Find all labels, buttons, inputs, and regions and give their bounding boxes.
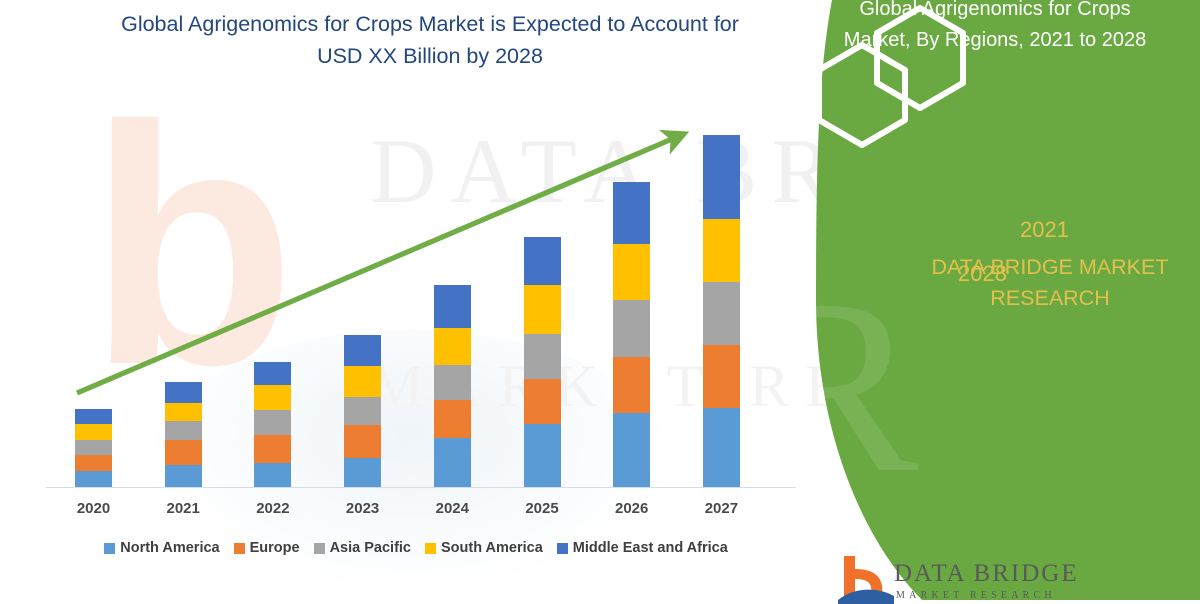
bar-segment-middle-east-and-africa xyxy=(254,362,291,385)
bar-segment-middle-east-and-africa xyxy=(344,335,381,366)
bar-segment-europe xyxy=(75,455,112,471)
bar-segment-middle-east-and-africa xyxy=(165,382,202,403)
bar-segment-middle-east-and-africa xyxy=(75,409,112,424)
x-axis-line xyxy=(46,487,796,488)
legend-label: Asia Pacific xyxy=(330,540,411,556)
bar-segment-middle-east-and-africa xyxy=(703,135,740,219)
stacked-bar xyxy=(703,135,740,487)
x-axis-label: 2022 xyxy=(233,500,313,517)
bar-segment-middle-east-and-africa xyxy=(434,285,471,328)
bar-segment-south-america xyxy=(165,403,202,421)
stacked-bar xyxy=(75,409,112,487)
bar-segment-europe xyxy=(613,357,650,413)
bar-segment-asia-pacific xyxy=(613,300,650,357)
bar-segment-asia-pacific xyxy=(434,365,471,400)
legend-swatch-icon xyxy=(234,543,245,554)
legend-item[interactable]: South America xyxy=(425,540,543,556)
x-axis-label: 2024 xyxy=(412,500,492,517)
legend-label: North America xyxy=(120,540,219,556)
bar-segment-europe xyxy=(165,440,202,465)
bar-segment-north-america xyxy=(344,458,381,487)
stacked-bar xyxy=(524,237,561,487)
x-axis-label: 2025 xyxy=(502,500,582,517)
logo-wordmark: DATA BRIDGE xyxy=(894,560,1079,588)
svg-text:R: R xyxy=(770,248,919,525)
logo-subtitle: MARKET RESEARCH xyxy=(896,590,1056,601)
chart-legend: North AmericaEuropeAsia PacificSouth Ame… xyxy=(46,540,786,556)
legend-item[interactable]: North America xyxy=(104,540,219,556)
bar-segment-europe xyxy=(434,400,471,438)
panel-title-line-2: Market, By Regions, 2021 to 2028 xyxy=(795,25,1195,56)
bar-segment-europe xyxy=(524,379,561,424)
legend-swatch-icon xyxy=(314,543,325,554)
bar-segment-asia-pacific xyxy=(75,440,112,455)
bar-segment-north-america xyxy=(524,424,561,487)
panel-brand-text: DATA BRIDGE MARKET RESEARCH xyxy=(900,252,1200,314)
bar-segment-north-america xyxy=(434,438,471,487)
legend-swatch-icon xyxy=(557,543,568,554)
bar-segment-north-america xyxy=(613,413,650,487)
legend-item[interactable]: Asia Pacific xyxy=(314,540,411,556)
logo-b-icon xyxy=(838,556,894,604)
stacked-bar xyxy=(344,335,381,487)
panel-title-line-1: Global Agrigenomics for Crops xyxy=(795,0,1195,25)
bar-segment-south-america xyxy=(613,244,650,300)
bar-segment-asia-pacific xyxy=(165,421,202,440)
legend-swatch-icon xyxy=(104,543,115,554)
bar-segment-south-america xyxy=(75,424,112,440)
chart-plot-area: 20202021202220232024202520262027 xyxy=(0,0,830,600)
panel-brand-line-1: DATA BRIDGE MARKET xyxy=(900,252,1200,283)
data-bridge-logo: DATA BRIDGE MARKET RESEARCH xyxy=(838,556,1198,604)
panel-title: Global Agrigenomics for Crops Market, By… xyxy=(795,0,1195,56)
x-axis-label: 2023 xyxy=(323,500,403,517)
bar-segment-asia-pacific xyxy=(344,397,381,425)
stacked-bar xyxy=(613,182,650,487)
bar-segment-europe xyxy=(344,425,381,458)
bar-segment-asia-pacific xyxy=(254,410,291,435)
bar-segment-europe xyxy=(703,345,740,408)
x-axis-label: 2026 xyxy=(592,500,672,517)
x-axis-label: 2021 xyxy=(143,500,223,517)
legend-item[interactable]: Middle East and Africa xyxy=(557,540,728,556)
bar-segment-asia-pacific xyxy=(703,282,740,345)
legend-label: Middle East and Africa xyxy=(573,540,728,556)
legend-label: South America xyxy=(441,540,543,556)
bar-segment-south-america xyxy=(344,366,381,397)
hexagon-label-back: 2021 xyxy=(1020,217,1069,243)
legend-item[interactable]: Europe xyxy=(234,540,300,556)
stacked-bar xyxy=(434,285,471,487)
bar-segment-north-america xyxy=(703,408,740,487)
infographic-canvas: b DATA BRIDGE MARKET RESEARCH Global Agr… xyxy=(0,0,1200,600)
bar-segment-north-america xyxy=(75,471,112,487)
x-axis-label: 2027 xyxy=(681,500,761,517)
bar-segment-north-america xyxy=(165,465,202,487)
hexagon-labels: 2021 2028 xyxy=(920,95,1120,245)
panel-brand-line-2: RESEARCH xyxy=(900,283,1200,314)
bar-segment-north-america xyxy=(254,463,291,487)
bar-segment-asia-pacific xyxy=(524,334,561,379)
bar-segment-south-america xyxy=(524,285,561,334)
bar-segment-south-america xyxy=(703,219,740,282)
stacked-bar xyxy=(254,362,291,487)
bar-segment-south-america xyxy=(434,328,471,365)
legend-label: Europe xyxy=(250,540,300,556)
bar-segment-europe xyxy=(254,435,291,463)
legend-swatch-icon xyxy=(425,543,436,554)
stacked-bar xyxy=(165,382,202,487)
bar-segment-south-america xyxy=(254,385,291,410)
x-axis-label: 2020 xyxy=(54,500,134,517)
bar-segment-middle-east-and-africa xyxy=(613,182,650,244)
bar-segment-middle-east-and-africa xyxy=(524,237,561,285)
